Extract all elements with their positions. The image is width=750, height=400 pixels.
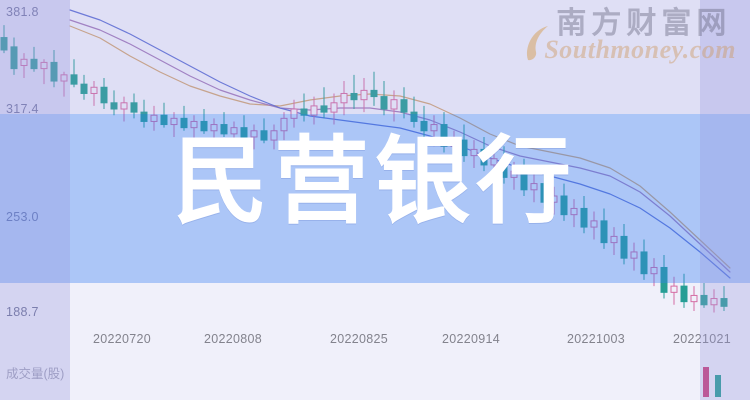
candlestick [91,81,97,106]
candlestick [101,78,107,109]
candlestick [171,112,177,137]
candlestick [231,121,237,146]
candlestick [1,25,7,53]
y-tick-label: 188.7 [6,305,39,319]
candlestick [241,115,247,140]
candlestick [691,286,697,311]
candlestick [591,212,597,240]
y-tick-label: 317.4 [6,102,39,116]
candlestick [411,97,417,128]
candlestick [271,125,277,150]
candlestick [51,50,57,87]
candlestick [281,112,287,140]
candlestick [341,81,347,115]
x-tick-label: 20220720 [93,332,151,346]
candlestick [211,118,217,143]
candlestick [611,227,617,255]
chart-screenshot: 381.8317.4253.0188.7 2022072020220808202… [0,0,750,400]
candlestick [251,125,257,150]
candlestick [31,47,37,72]
candlestick [471,140,477,168]
candlestick [641,240,647,280]
candlestick [671,277,677,305]
candlestick [361,78,367,112]
candlestick [521,159,527,196]
y-tick-label: 253.0 [6,210,39,224]
y-tick-label: 381.8 [6,5,39,19]
candlestick [201,109,207,134]
candlestick [721,286,727,311]
candlestick [551,187,557,215]
x-tick-label: 20221021 [673,332,731,346]
candlestick [421,106,427,137]
x-tick-label: 20220914 [442,332,500,346]
candlestick [631,243,637,271]
ma-line [70,10,730,278]
ma-line [70,26,730,268]
candlestick [151,106,157,131]
candlestick [61,72,67,97]
volume-axis-label: 成交量(股) [6,363,64,382]
candlestick [681,274,687,308]
candlestick [71,59,77,87]
candlestick [351,75,357,109]
candlestick [701,283,707,308]
candlestick [191,115,197,140]
candlestick [131,93,137,118]
candlestick [81,75,87,100]
candlestick [21,53,27,78]
candlestick [431,115,437,146]
candlestick [581,196,587,233]
candlestick [491,149,497,177]
candlestick [301,93,307,121]
candlestick [161,103,167,128]
x-tick-label: 20220808 [204,332,262,346]
candlestick [571,199,577,227]
candlestick [221,112,227,137]
candlestick [371,72,377,106]
x-tick-label: 20220825 [330,332,388,346]
candlestick [141,100,147,128]
candlestick [601,208,607,248]
candlestick [321,87,327,118]
candlestick [541,171,547,208]
volume-bar [715,375,721,397]
candlestick [621,224,627,264]
candlestick [181,106,187,131]
ma-line [70,20,730,272]
volume-bar [703,367,709,397]
candlestick [461,125,467,162]
candlestick [451,131,457,159]
candlestick [121,97,127,122]
candlestick [441,112,447,152]
candlestick [311,97,317,125]
candlestick [661,255,667,299]
candlestick [511,162,517,190]
candlestick [711,289,717,312]
x-tick-label: 20221003 [567,332,625,346]
candlestick [41,59,47,84]
candlestick [261,118,267,143]
candlestick [531,174,537,202]
candlestick [11,38,17,75]
candlestick [651,258,657,286]
candlestick [111,90,117,115]
candlestick [561,184,567,221]
